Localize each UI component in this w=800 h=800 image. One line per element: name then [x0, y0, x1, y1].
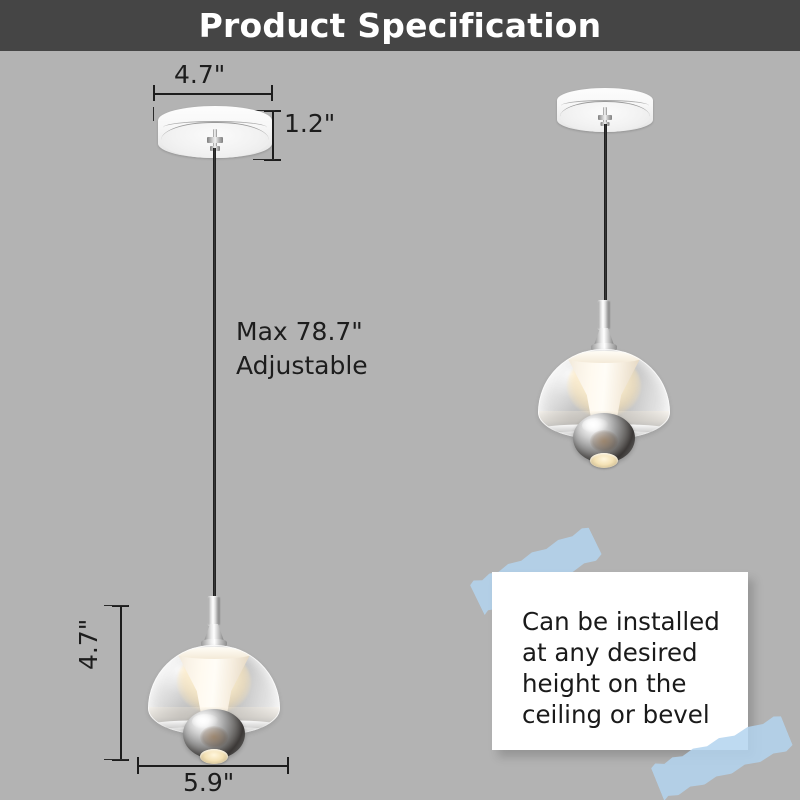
pendant-lamp-right: [538, 300, 670, 460]
lamp-stem: [598, 300, 611, 330]
note-card: Can be installed at any desired height o…: [492, 572, 748, 750]
sphere-warm-reflection: [200, 726, 227, 748]
chrome-sphere: [573, 413, 635, 463]
header-bar: Product Specification: [0, 0, 800, 51]
suspension-cord-right: [604, 124, 607, 304]
dimension-line-horizontal: [153, 93, 273, 95]
extension-line-bottom: [253, 159, 275, 160]
extension-line-left: [153, 107, 155, 121]
sphere-lens: [200, 749, 228, 764]
dimension-cap-left: [137, 757, 139, 774]
extension-line-bottom: [104, 759, 128, 760]
page-title: Product Specification: [0, 0, 800, 51]
canopy-hub-nut: [598, 115, 612, 120]
installation-note: Can be installed at any desired height o…: [492, 572, 748, 750]
lamp-stem: [208, 596, 221, 626]
dimension-line-horizontal: [137, 765, 289, 767]
sphere-lens: [590, 453, 618, 468]
canopy-height-label: 1.2": [284, 109, 335, 138]
chrome-sphere: [183, 709, 245, 759]
canopy-hub-nut: [207, 137, 223, 143]
dimension-line-vertical: [272, 110, 274, 160]
note-line-3: height on the: [522, 668, 738, 699]
note-line-2: at any desired: [522, 637, 738, 668]
extension-line-top: [104, 605, 128, 606]
dimension-cap-right: [271, 85, 273, 101]
shade-height-label: 4.7": [74, 619, 103, 670]
adjustable-label-line1: Max 78.7": [236, 317, 363, 346]
sphere-warm-reflection: [590, 430, 617, 452]
dimension-line-vertical: [120, 605, 122, 760]
adjustable-label-line2: Adjustable: [236, 351, 368, 380]
pendant-lamp-left: [148, 596, 280, 756]
note-line-4: ceiling or bevel: [522, 699, 738, 730]
dimension-cap-right: [287, 757, 289, 774]
specification-sheet: Product Specification 4.7" 1.2" Max 78.7…: [0, 0, 800, 800]
note-text: Can be installed at any desired height o…: [522, 606, 738, 730]
dimension-cap-left: [153, 85, 155, 101]
canopy-diameter-label: 4.7": [174, 60, 225, 89]
note-line-1: Can be installed: [522, 606, 738, 637]
shade-diameter-label: 5.9": [183, 768, 234, 797]
suspension-cord-left: [213, 148, 216, 600]
